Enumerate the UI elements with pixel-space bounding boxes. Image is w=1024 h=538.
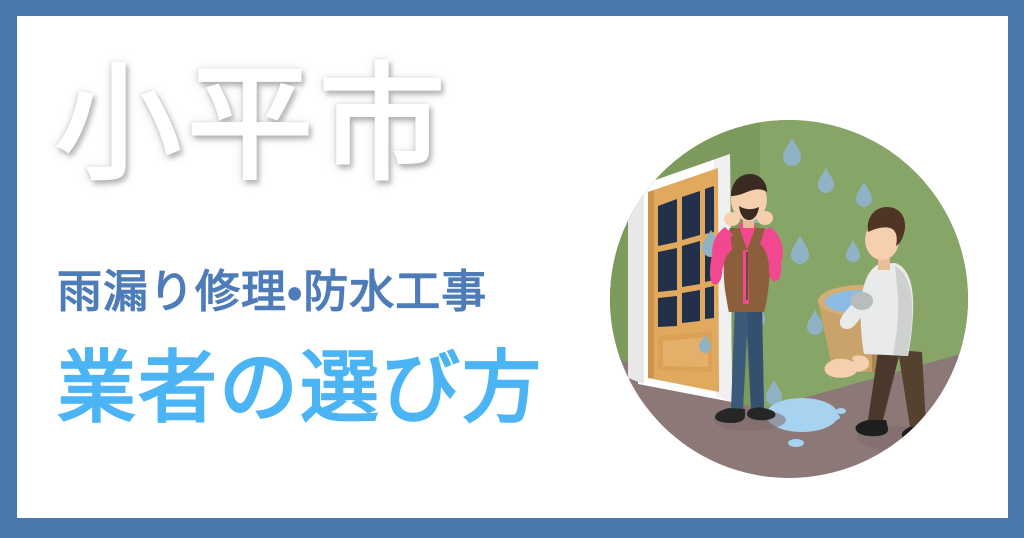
man1-cardigan-seam — [746, 252, 748, 300]
page-title: 小平市 — [55, 62, 555, 188]
door-frame-side — [628, 186, 644, 384]
door-glass-panes — [658, 186, 714, 327]
headline: 業者の選び方 — [57, 348, 617, 427]
illustration-roof-leak — [610, 120, 968, 478]
man2-shoulder-shade — [851, 292, 873, 310]
subtitle: 雨漏り修理・防水工事 — [57, 269, 617, 314]
banner-root: 小平市 雨漏り修理・防水工事 業者の選び方 — [0, 0, 1024, 538]
illustration-svg — [610, 120, 968, 478]
text-block: 小平市 雨漏り修理・防水工事 業者の選び方 — [17, 16, 617, 518]
door-edge-shade — [648, 190, 654, 378]
banner-card: 小平市 雨漏り修理・防水工事 業者の選び方 — [17, 16, 1008, 518]
